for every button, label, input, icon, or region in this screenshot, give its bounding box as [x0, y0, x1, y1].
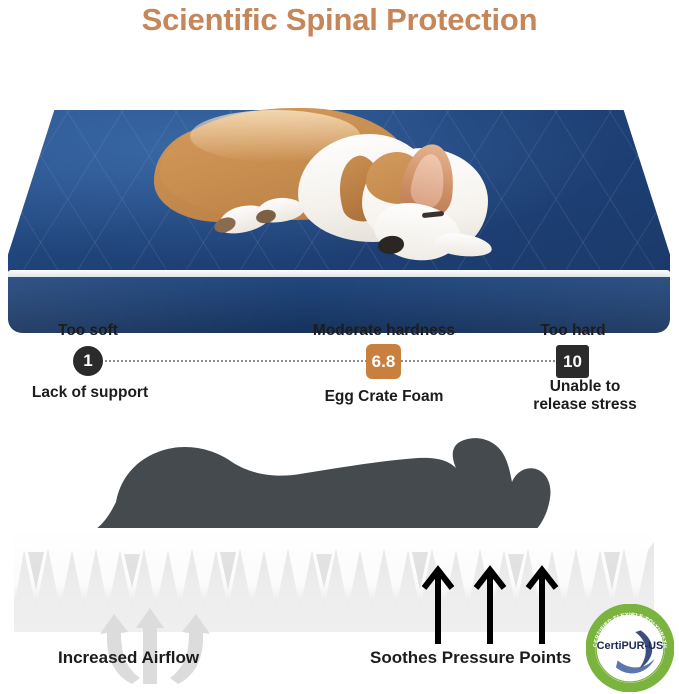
scale-hard-bottom-label: Unable to release stress: [500, 378, 670, 414]
pressure-arrows-icon: [420, 562, 560, 644]
hardness-scale: Too soft 1 Lack of support Moderate hard…: [0, 312, 679, 422]
certipur-us-badge-icon: CONTAINS CERTIFIED FLEXIBLE POLYURETHANE…: [586, 604, 674, 692]
scale-dotted-line: [98, 360, 566, 362]
pressure-label: Soothes Pressure Points: [370, 648, 571, 668]
badge-name-text: CertiPUR-US: [597, 640, 664, 652]
infographic-page: Scientific Spinal Protection: [0, 0, 679, 694]
scale-moderate-top-label: Moderate hardness: [288, 322, 480, 340]
scale-soft-top-label: Too soft: [14, 322, 162, 340]
scale-marker-hard: 10: [556, 345, 589, 378]
scale-hard-top-label: Too hard: [498, 322, 648, 340]
page-title: Scientific Spinal Protection: [0, 2, 679, 38]
scale-marker-moderate: 6.8: [366, 344, 401, 379]
airflow-label: Increased Airflow: [58, 648, 199, 668]
scale-marker-soft: 1: [73, 346, 103, 376]
scale-moderate-bottom-label: Egg Crate Foam: [288, 388, 480, 406]
sleeping-dog: [150, 100, 540, 285]
scale-hard-bottom-line1: Unable to: [500, 378, 670, 396]
scale-hard-bottom-line2: release stress: [500, 396, 670, 414]
airflow-arrows-icon: [70, 604, 240, 684]
hero-product-photo: [0, 48, 679, 298]
scale-soft-bottom-label: Lack of support: [0, 384, 180, 402]
